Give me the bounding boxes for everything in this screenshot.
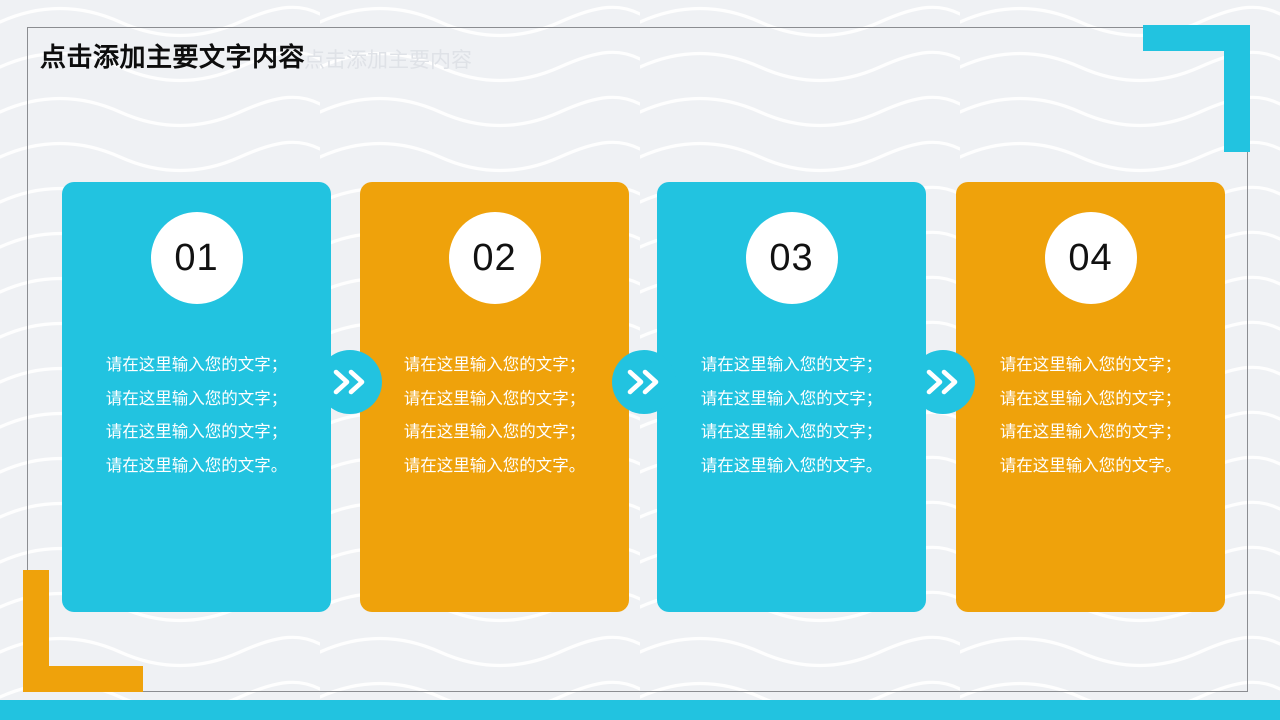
connector-2-3 (612, 350, 676, 414)
page-subtitle-placeholder: 点击添加主要内容 (304, 47, 472, 75)
card-text-line: 请在这里输入您的文字。 (671, 449, 912, 483)
card-badge-03: 03 (746, 212, 838, 304)
card-text-line: 请在这里输入您的文字； (970, 415, 1211, 449)
card-body-04: 请在这里输入您的文字； 请在这里输入您的文字； 请在这里输入您的文字； 请在这里… (970, 348, 1211, 482)
card-text-line: 请在这里输入您的文字； (374, 382, 615, 416)
card-text-line: 请在这里输入您的文字； (671, 348, 912, 382)
card-badge-02: 02 (449, 212, 541, 304)
card-text-line: 请在这里输入您的文字； (374, 348, 615, 382)
card-text-line: 请在这里输入您的文字； (970, 348, 1211, 382)
card-number-label: 04 (1068, 239, 1112, 277)
card-number-label: 01 (174, 239, 218, 277)
content-card-01[interactable]: 01 请在这里输入您的文字； 请在这里输入您的文字； 请在这里输入您的文字； 请… (62, 182, 331, 612)
card-text-line: 请在这里输入您的文字。 (76, 449, 317, 483)
orange-corner-bracket-horizontal (23, 666, 143, 692)
card-text-line: 请在这里输入您的文字； (76, 382, 317, 416)
double-chevron-right-icon (925, 369, 961, 395)
card-number-label: 02 (472, 239, 516, 277)
card-text-line: 请在这里输入您的文字。 (374, 449, 615, 483)
card-body-01: 请在这里输入您的文字； 请在这里输入您的文字； 请在这里输入您的文字； 请在这里… (76, 348, 317, 482)
card-text-line: 请在这里输入您的文字； (374, 415, 615, 449)
connector-3-4 (911, 350, 975, 414)
double-chevron-right-icon (332, 369, 368, 395)
card-text-line: 请在这里输入您的文字； (970, 382, 1211, 416)
card-text-line: 请在这里输入您的文字； (76, 415, 317, 449)
card-badge-01: 01 (151, 212, 243, 304)
connector-1-2 (318, 350, 382, 414)
card-text-line: 请在这里输入您的文字； (76, 348, 317, 382)
content-card-02[interactable]: 02 请在这里输入您的文字； 请在这里输入您的文字； 请在这里输入您的文字； 请… (360, 182, 629, 612)
card-text-line: 请在这里输入您的文字。 (970, 449, 1211, 483)
card-number-label: 03 (769, 239, 813, 277)
card-badge-04: 04 (1045, 212, 1137, 304)
content-card-03[interactable]: 03 请在这里输入您的文字； 请在这里输入您的文字； 请在这里输入您的文字； 请… (657, 182, 926, 612)
slide-header: 点击添加主要文字内容 点击添加主要内容 (40, 40, 740, 80)
cyan-corner-bracket-vertical (1224, 25, 1250, 152)
card-body-03: 请在这里输入您的文字； 请在这里输入您的文字； 请在这里输入您的文字； 请在这里… (671, 348, 912, 482)
cyan-bottom-bar (0, 700, 1280, 720)
card-text-line: 请在这里输入您的文字； (671, 415, 912, 449)
double-chevron-right-icon (626, 369, 662, 395)
slide-canvas: 点击添加主要文字内容 点击添加主要内容 01 请在这里输入您的文字； 请在这里输… (0, 0, 1280, 720)
card-body-02: 请在这里输入您的文字； 请在这里输入您的文字； 请在这里输入您的文字； 请在这里… (374, 348, 615, 482)
content-card-04[interactable]: 04 请在这里输入您的文字； 请在这里输入您的文字； 请在这里输入您的文字； 请… (956, 182, 1225, 612)
card-text-line: 请在这里输入您的文字； (671, 382, 912, 416)
page-title: 点击添加主要文字内容 (40, 40, 305, 74)
